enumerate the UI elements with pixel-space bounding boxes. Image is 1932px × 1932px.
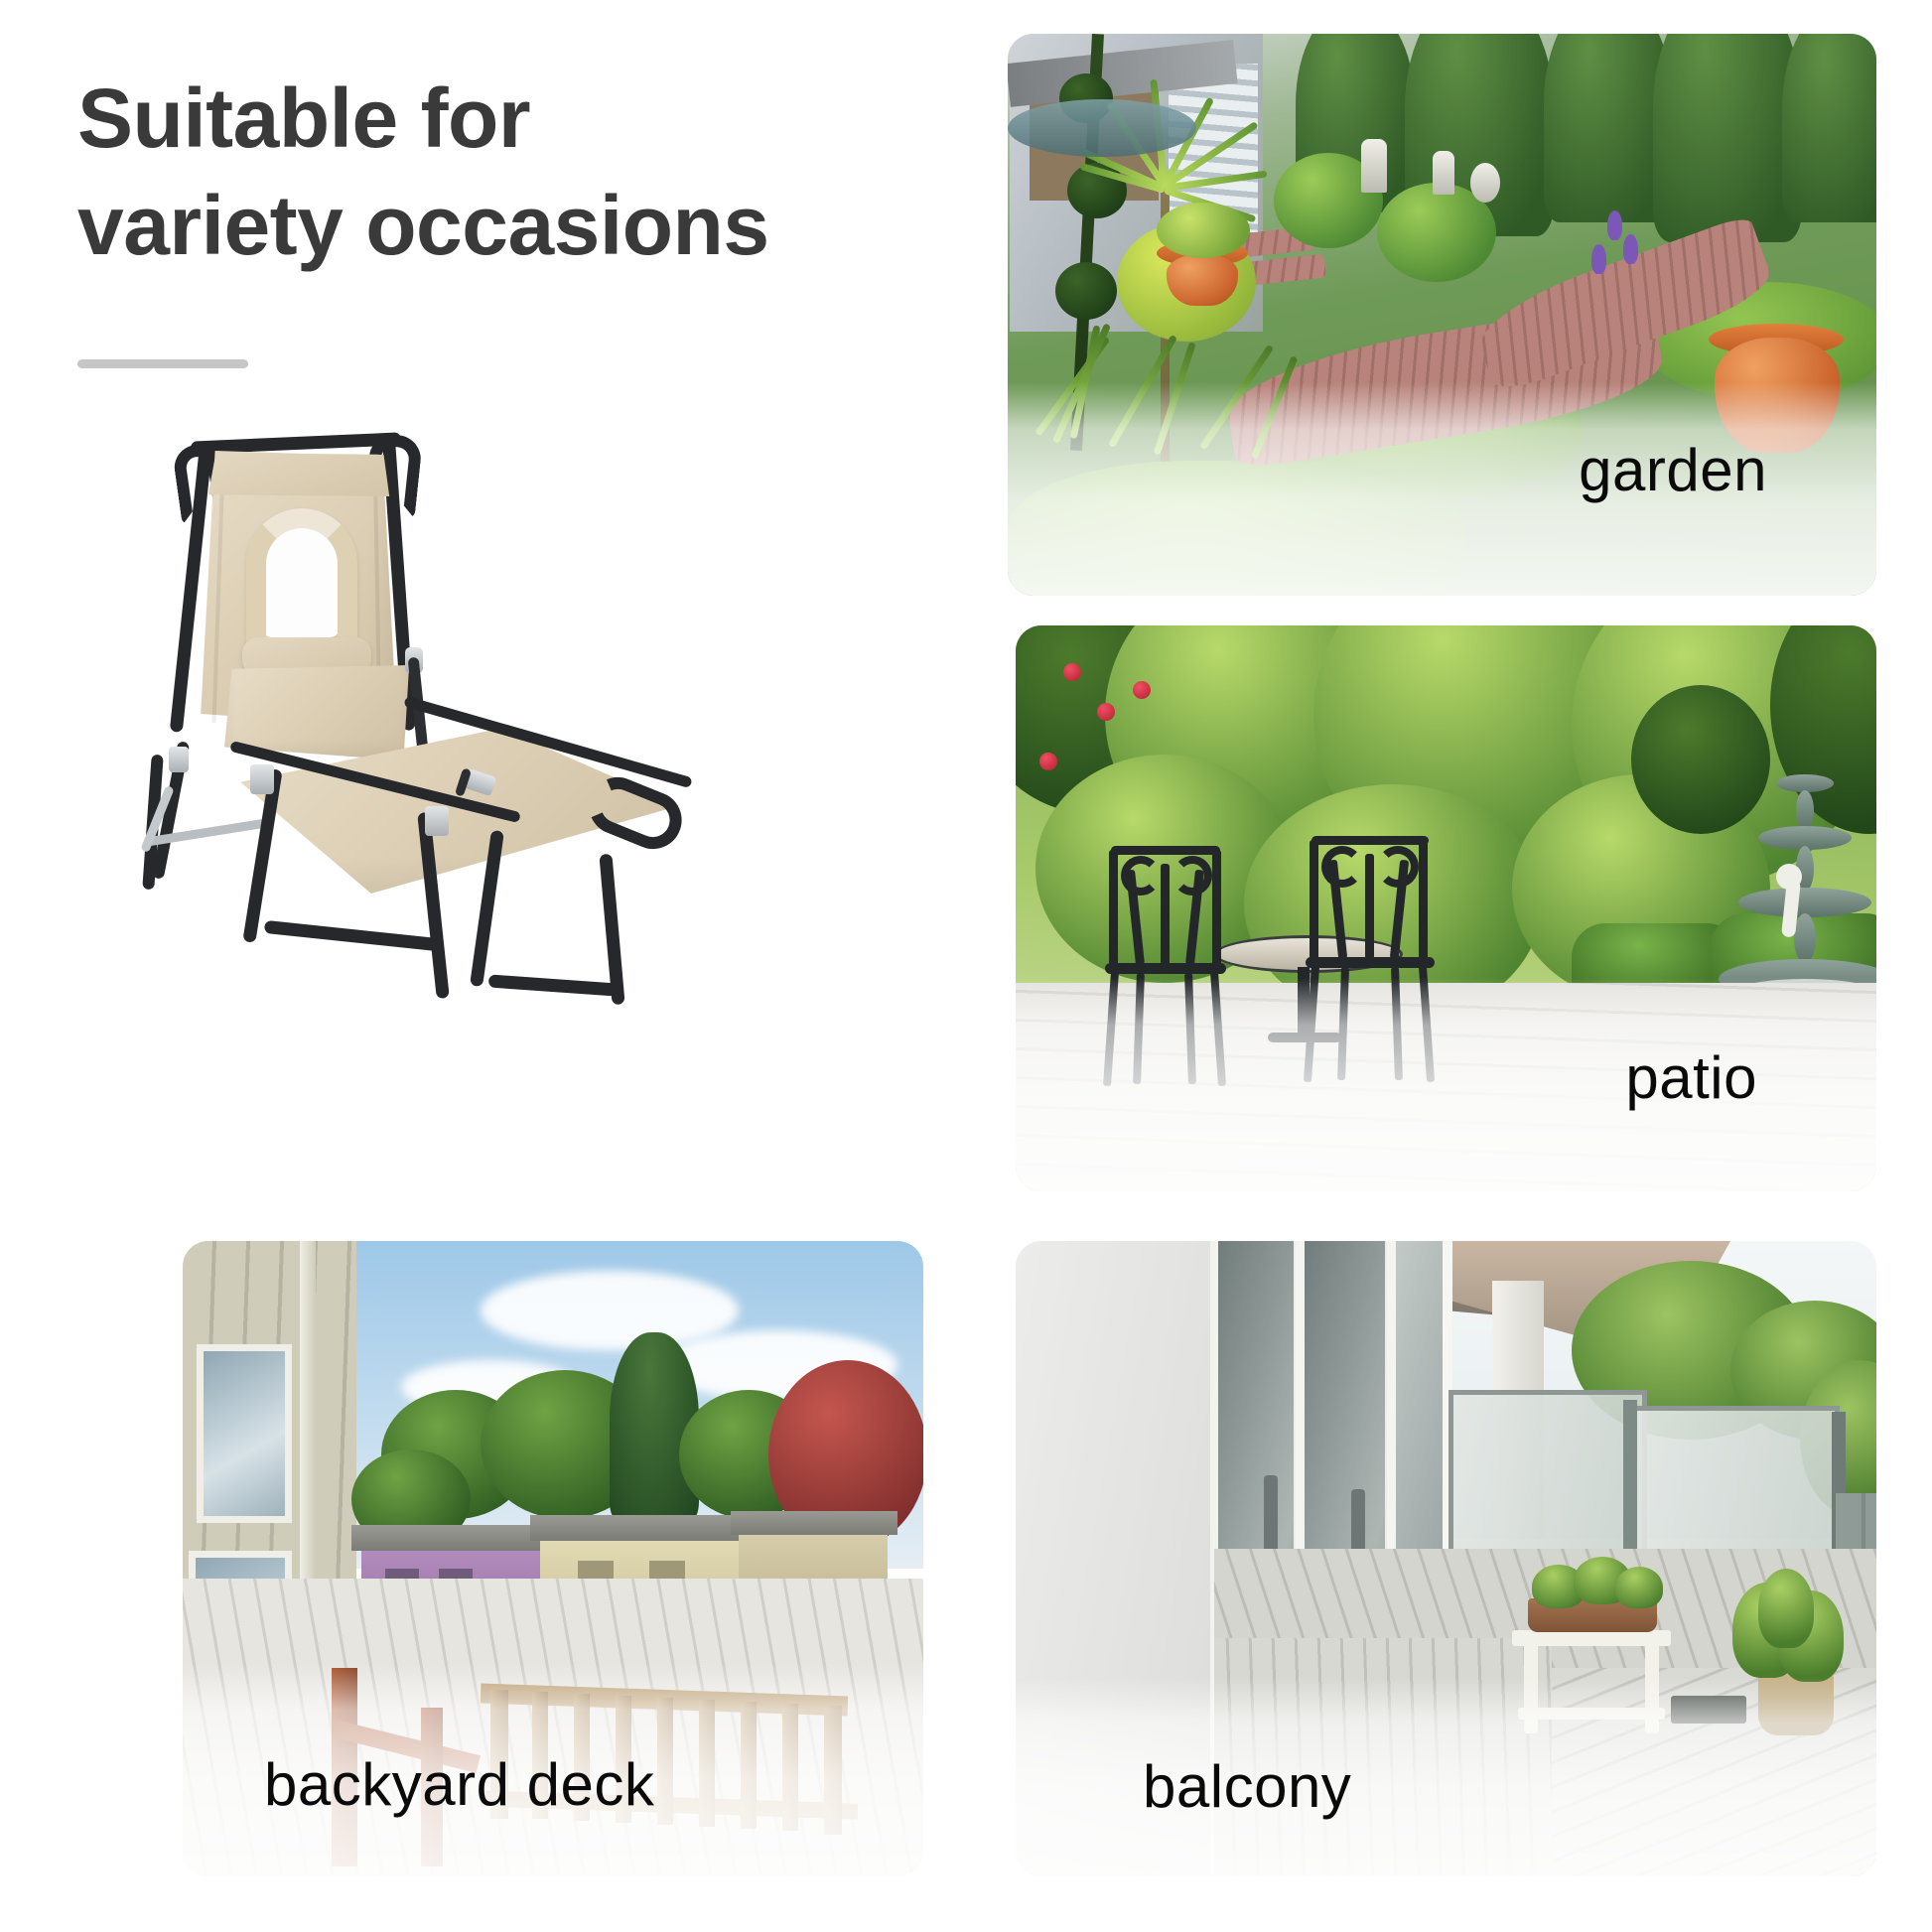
garden-photo — [1008, 34, 1876, 596]
scene-panel-patio[interactable]: patio — [1016, 625, 1876, 1191]
panel-label-balcony: balcony — [1143, 1752, 1351, 1821]
title-divider — [77, 359, 248, 368]
panel-label-patio: patio — [1625, 1043, 1757, 1112]
scene-panel-balcony[interactable]: balcony — [1016, 1241, 1876, 1876]
scene-panel-garden[interactable]: garden — [1008, 34, 1876, 596]
page-title-line-1: Suitable for — [77, 66, 832, 173]
marketing-slide: Suitable for variety occasions — [0, 0, 1932, 1932]
product-image-sun-lounger — [139, 427, 794, 983]
page-title-line-2: variety occasions — [77, 173, 832, 280]
scene-panel-backyard-deck[interactable]: backyard deck — [183, 1241, 923, 1876]
panel-label-garden: garden — [1579, 436, 1767, 504]
panel-label-backyard-deck: backyard deck — [264, 1750, 654, 1819]
page-title: Suitable for variety occasions — [77, 66, 832, 279]
